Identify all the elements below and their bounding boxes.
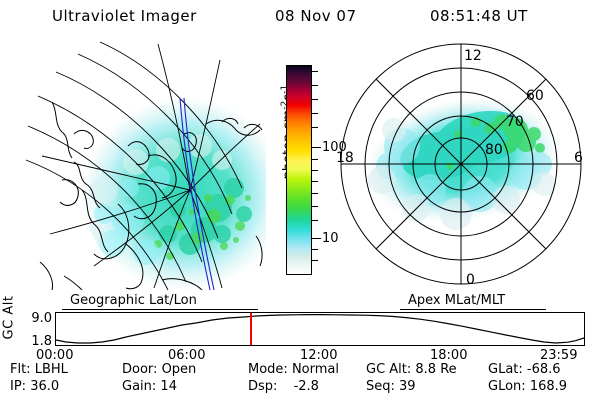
timeline-plot-svg: [56, 313, 584, 345]
timeline-xtick-0000: 00:00: [36, 349, 73, 362]
mlt-label-6: 6: [574, 150, 583, 166]
colorbar-tick-minor: [312, 71, 318, 72]
mlat-label-60: 60: [526, 88, 544, 104]
timeline-y-axis-label: GC Alt: [2, 281, 17, 355]
colorbar-tick-minor: [312, 206, 318, 207]
status-gcalt-value: 8.8 Re: [415, 362, 456, 377]
header-bar: Ultraviolet Imager 08 Nov 07 08:51:48 UT: [0, 6, 600, 30]
colorbar-tick-minor: [312, 85, 318, 86]
status-gcalt: GC Alt: 8.8 Re: [366, 362, 457, 377]
colorbar-tick-minor: [312, 249, 318, 250]
status-ip-label: IP:: [10, 379, 26, 394]
colorbar-tick-minor: [312, 260, 318, 261]
altitude-curve: [56, 315, 584, 343]
magnetic-plot-svg: 12 6 0 18 60 70 80: [330, 38, 592, 290]
mlat-label-70: 70: [506, 114, 524, 130]
colorbar-tick-100: [312, 147, 321, 148]
status-glon-value: 168.9: [530, 379, 567, 394]
status-seq-label: Seq:: [366, 379, 395, 394]
status-ip: IP: 36.0: [10, 379, 59, 394]
geographic-panel-subtitle: Geographic Lat/Lon: [70, 294, 197, 308]
magnetic-dial-panel[interactable]: 12 6 0 18 60 70 80: [330, 38, 592, 290]
mlt-label-12: 12: [464, 48, 482, 64]
status-footer: Flt: LBHL IP: 36.0 Door: Open Gain: 14 M…: [0, 362, 600, 400]
status-gain: Gain: 14: [122, 379, 177, 394]
status-dsp-label: Dsp:: [248, 379, 277, 394]
colorbar-tick-minor: [312, 159, 318, 160]
timeline-plot-box[interactable]: [55, 312, 585, 346]
colorbar-group: photon cm-2s-1 100 10: [266, 60, 332, 288]
status-filter-value: LBHL: [35, 362, 68, 377]
status-seq: Seq: 39: [366, 379, 416, 394]
timeline-xtick-0600: 06:00: [168, 349, 205, 362]
status-mode-value: Normal: [292, 362, 339, 377]
status-gain-label: Gain:: [122, 379, 156, 394]
magnetic-panel-subtitle: Apex MLat/MLT: [408, 294, 505, 308]
colorbar-tick-minor: [312, 127, 318, 128]
mlt-label-18: 18: [336, 150, 354, 166]
status-glat-label: GLat:: [488, 362, 523, 377]
colorbar-tick-minor: [312, 170, 318, 171]
mlt-spokes: [341, 44, 581, 284]
status-glon-label: GLon:: [488, 379, 526, 394]
timeline-ytick-max: 9.0: [18, 312, 52, 325]
colorbar-tick-minor: [312, 113, 318, 114]
timeline-xtick-2359: 23:59: [540, 349, 577, 362]
status-filter-label: Flt:: [10, 362, 31, 377]
status-gain-value: 14: [160, 379, 177, 394]
status-dsp: Dsp: -2.8: [248, 379, 319, 394]
status-mode: Mode: Normal: [248, 362, 339, 377]
observation-date: 08 Nov 07: [275, 6, 357, 26]
status-door-value: Open: [162, 362, 197, 377]
status-glon: GLon: 168.9: [488, 379, 567, 394]
instrument-title: Ultraviolet Imager: [52, 6, 197, 26]
status-seq-value: 39: [399, 379, 416, 394]
status-door: Door: Open: [122, 362, 196, 377]
timeline-xtick-1800: 18:00: [430, 349, 467, 362]
aurora-emission-magnetic: [356, 82, 571, 238]
mlat-label-80: 80: [485, 142, 503, 158]
colorbar-tick-10: [312, 238, 321, 239]
status-mode-label: Mode:: [248, 362, 288, 377]
status-filter: Flt: LBHL: [10, 362, 68, 377]
status-door-label: Door:: [122, 362, 157, 377]
observation-time: 08:51:48 UT: [430, 6, 528, 26]
colorbar-tick-minor: [312, 193, 318, 194]
colorbar-tick-minor: [312, 220, 318, 221]
colorbar-tick-minor: [312, 99, 318, 100]
status-ip-value: 36.0: [30, 379, 59, 394]
mlt-label-0: 0: [466, 272, 475, 288]
timeline-ytick-min: 1.8: [18, 335, 52, 348]
colorbar-gradient: [287, 66, 311, 274]
uvi-display: Ultraviolet Imager 08 Nov 07 08:51:48 UT: [0, 0, 600, 400]
colorbar-scale[interactable]: [286, 65, 312, 275]
status-dsp-value: -2.8: [294, 379, 319, 394]
timeline-xtick-1200: 12:00: [300, 349, 337, 362]
colorbar-tick-minor: [312, 181, 318, 182]
geographic-plot-svg: [8, 38, 266, 290]
status-glat-value: -68.6: [527, 362, 561, 377]
orbit-altitude-timeline[interactable]: GC Alt 9.0 1.8 00:00 06:00 12:00 18:00 2…: [0, 308, 600, 360]
timeline-ylabel-alt: Alt: [2, 296, 17, 315]
status-gcalt-label: GC Alt:: [366, 362, 411, 377]
status-glat: GLat: -68.6: [488, 362, 561, 377]
geographic-image-panel[interactable]: [8, 38, 266, 290]
timeline-ylabel-gc: GC: [2, 319, 17, 339]
